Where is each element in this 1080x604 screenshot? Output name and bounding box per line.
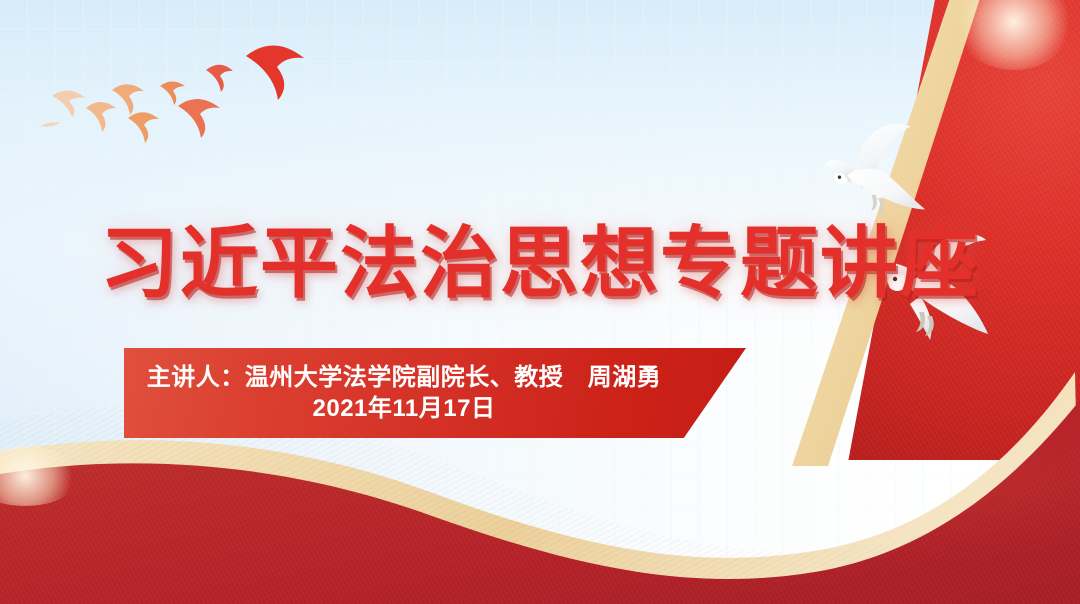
date-line: 2021年11月17日 xyxy=(313,395,496,423)
subtitle-banner-content: 主讲人：温州大学法学院副院长、教授 周湖勇 2021年11月17日 xyxy=(124,348,684,438)
bird-flock-icon xyxy=(0,0,340,180)
lecture-title-slide: 习近平法治思想专题讲座 主讲人：温州大学法学院副院长、教授 周湖勇 2021年1… xyxy=(0,0,1080,604)
subtitle-banner: 主讲人：温州大学法学院副院长、教授 周湖勇 2021年11月17日 xyxy=(124,348,746,438)
page-title: 习近平法治思想专题讲座 xyxy=(100,224,920,302)
white-dove-upper-icon xyxy=(821,122,926,220)
speaker-line: 主讲人：温州大学法学院副院长、教授 周湖勇 xyxy=(147,364,662,392)
